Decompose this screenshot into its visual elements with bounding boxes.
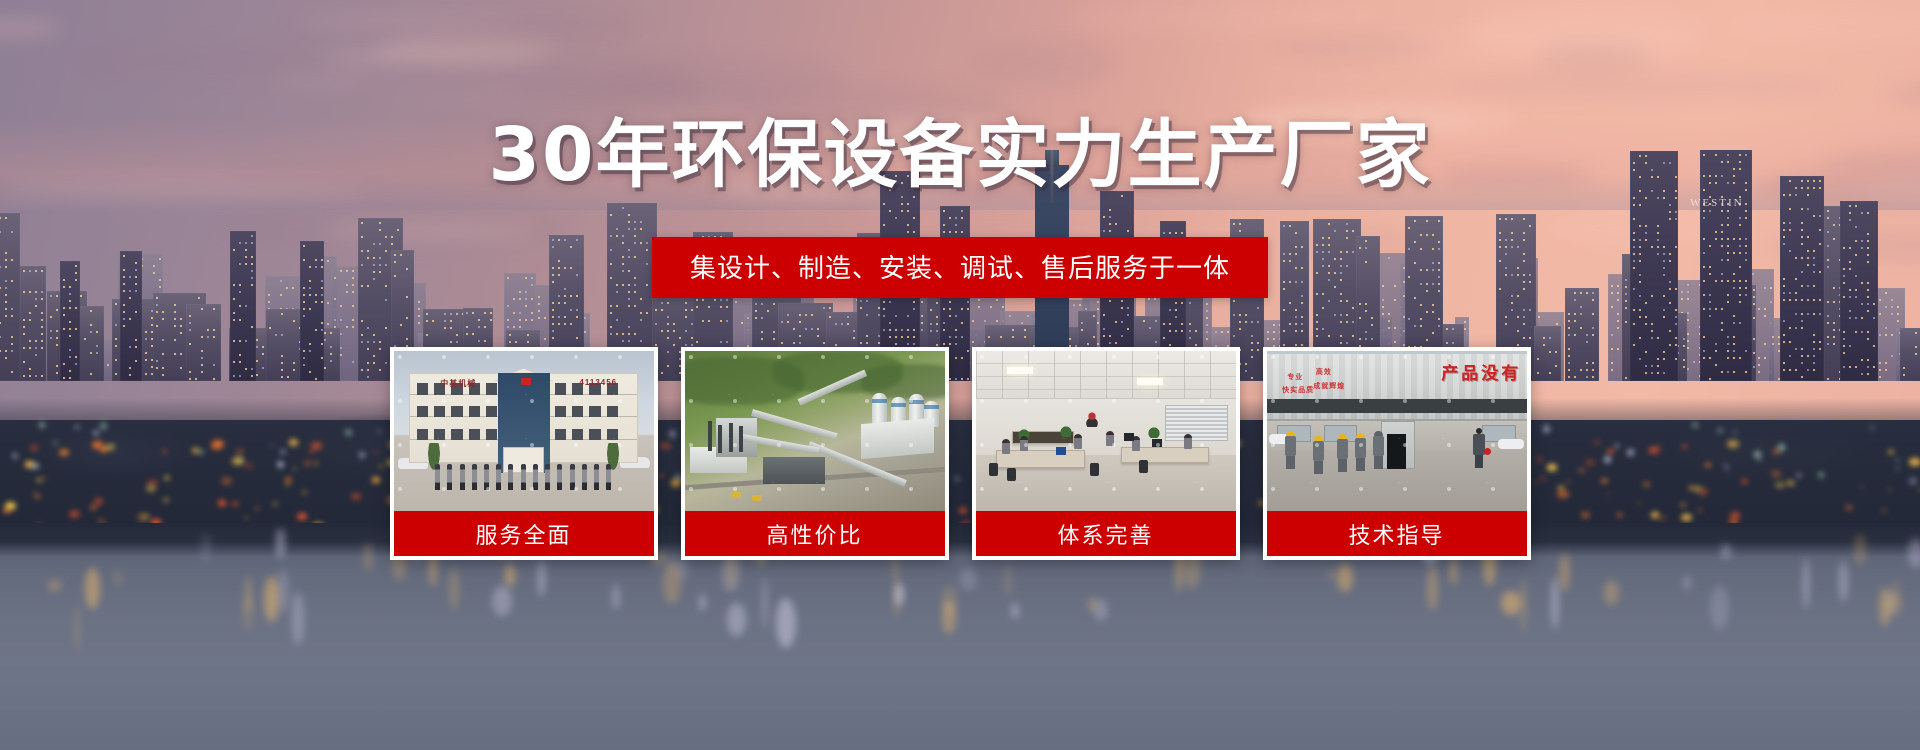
worker (1355, 433, 1366, 471)
subbanner-row: 集设计、制造、安装、调试、售后服务于一体 (0, 237, 1920, 298)
card-caption: 体系完善 (976, 511, 1236, 556)
wall-logo-icon (1080, 409, 1104, 427)
factory-slogan: 专业 (1287, 372, 1303, 382)
worker (1373, 431, 1384, 469)
card-photo-office-interior (976, 351, 1236, 511)
westin-sign-label: WESTIN (1690, 197, 1744, 209)
feature-card-row: 中基机械 4113456 服务全面 (0, 347, 1920, 560)
feature-card[interactable]: 中基机械 4113456 服务全面 (390, 347, 658, 560)
card-caption: 服务全面 (394, 511, 654, 556)
card-photo-workers-factory: 产品没有 专业 高效 快实品质 成就辉煌 (1267, 351, 1527, 511)
worker (1337, 434, 1348, 472)
factory-slogan: 成就辉煌 (1313, 381, 1345, 391)
card-caption: 高性价比 (685, 511, 945, 556)
worker (1285, 431, 1296, 469)
card-photo-office-building: 中基机械 4113456 (394, 351, 654, 511)
feature-card[interactable]: 产品没有 专业 高效 快实品质 成就辉煌 (1263, 347, 1531, 560)
factory-slogan: 高效 (1316, 367, 1332, 377)
banner-subtitle: 集设计、制造、安装、调试、售后服务于一体 (652, 237, 1268, 298)
worker (1313, 436, 1324, 474)
building-phone-sign: 4113456 (579, 378, 617, 387)
feature-card[interactable]: 体系完善 (972, 347, 1240, 560)
banner-headline: 30年环保设备实力生产厂家 (0, 118, 1920, 192)
window-blinds (1165, 405, 1227, 440)
card-photo-plant-aerial (685, 351, 945, 511)
feature-card[interactable]: 高性价比 (681, 347, 949, 560)
factory-wall-sign: 产品没有 (1441, 359, 1521, 384)
supervisor (1473, 428, 1485, 468)
card-caption: 技术指导 (1267, 511, 1527, 556)
hero-banner: WESTIN 30年环保设备实力生产厂家 集设计、制造、安装、调试、售后服务于一… (0, 0, 1920, 750)
factory-slogan: 快实品质 (1282, 385, 1314, 395)
building-company-sign: 中基机械 (440, 378, 476, 389)
